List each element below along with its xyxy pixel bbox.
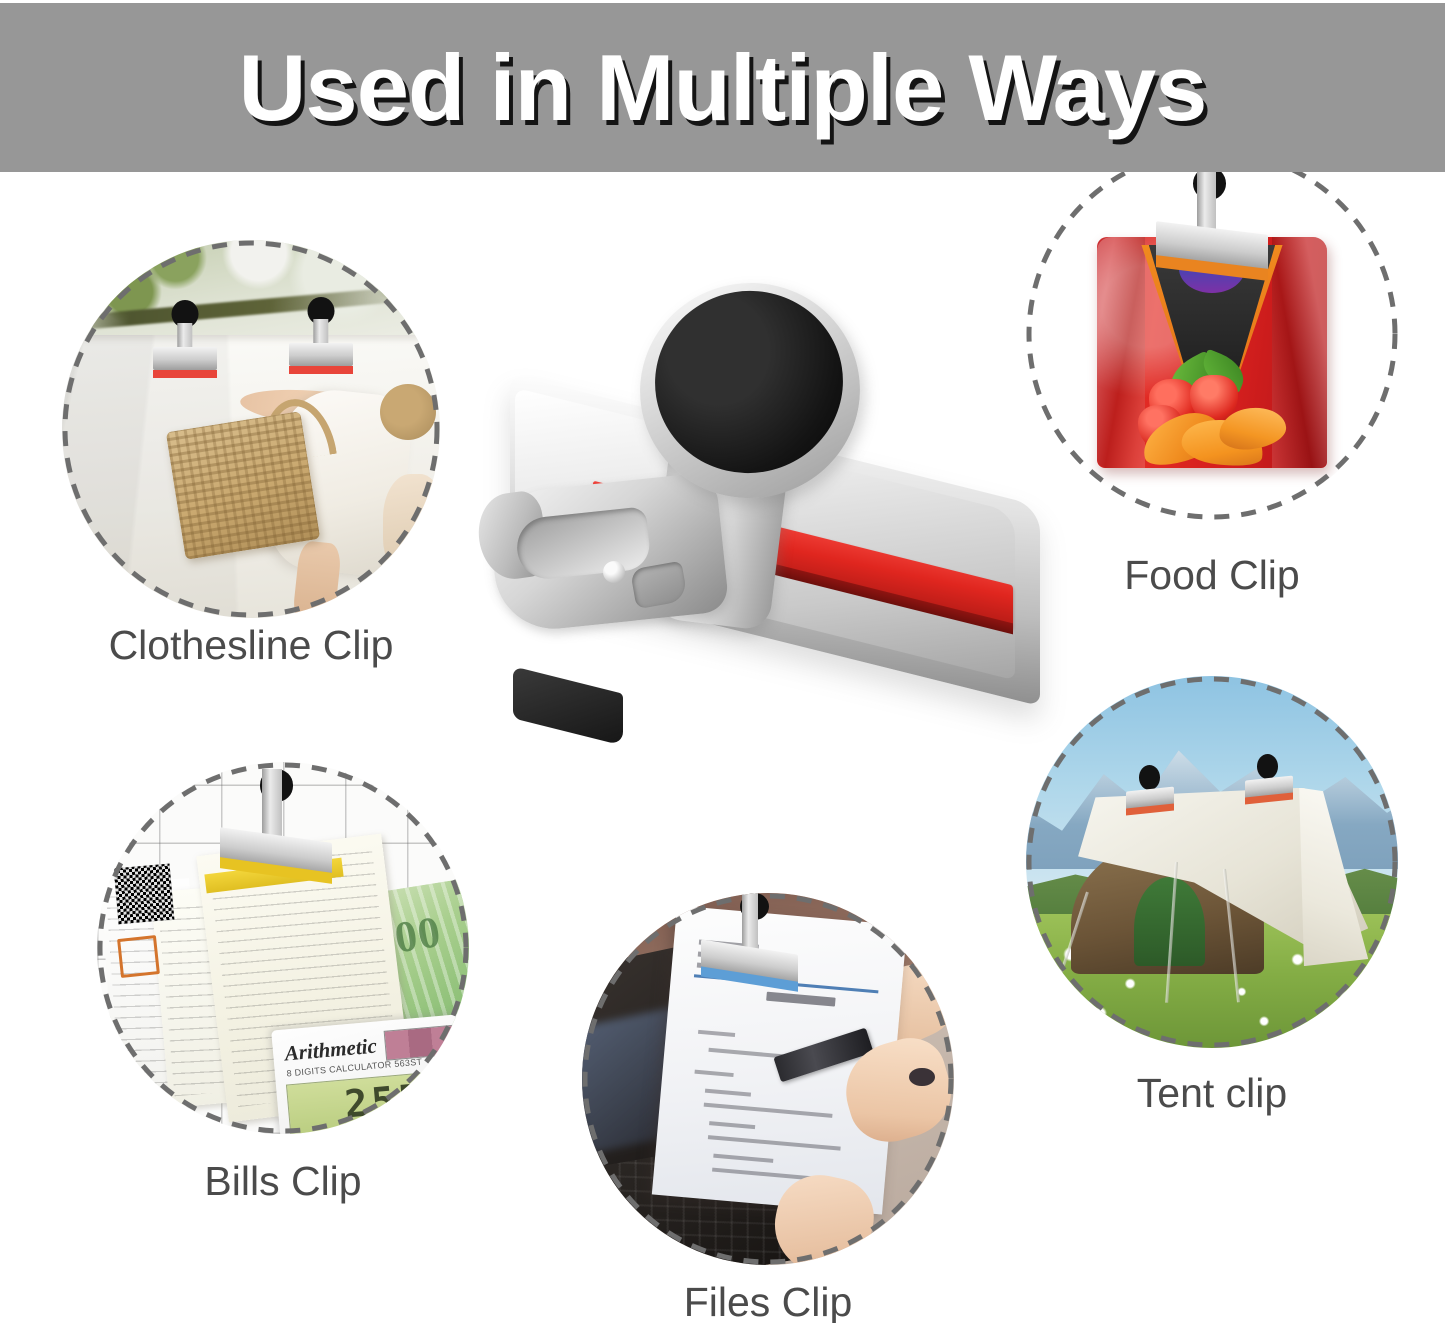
document-body-line (709, 1121, 755, 1129)
bag-crinkle-left (1097, 237, 1145, 468)
document-body-line (713, 1154, 773, 1163)
mini-clip-files (701, 893, 798, 997)
use-case-label-files: Files Clip (538, 1279, 998, 1323)
document-body-line (705, 1089, 751, 1097)
mini-clip-left (153, 300, 217, 387)
document-body-line (703, 1103, 832, 1118)
clothesline-photo (62, 240, 440, 618)
mini-clip-tent-left (1126, 765, 1174, 817)
files-scene (582, 893, 954, 1265)
woman-leg (292, 540, 342, 618)
bills-scene: 100 Arithmetic 8 DIGITS CALCULATOR 563ST (97, 762, 469, 1134)
mini-clip-jaw (153, 347, 217, 370)
clip-rivet (603, 561, 625, 583)
clothesline-scene (62, 240, 440, 618)
use-case-label-clothesline: Clothesline Clip (20, 622, 482, 669)
mini-clip-neck (262, 769, 282, 838)
files-photo (582, 893, 954, 1265)
use-case-clothesline: Clothesline Clip (62, 240, 440, 618)
mini-clip-tent-right (1245, 754, 1293, 806)
mini-clip-red-strip (153, 370, 217, 378)
mini-clip-food (1156, 167, 1268, 286)
use-case-bills: 100 Arithmetic 8 DIGITS CALCULATOR 563ST (97, 762, 469, 1134)
calculator-display-value: 2550 (342, 1074, 453, 1127)
calculator: Arithmetic 8 DIGITS CALCULATOR 563ST 255… (271, 1014, 469, 1134)
wicker-basket (166, 412, 321, 560)
bills-photo: 100 Arithmetic 8 DIGITS CALCULATOR 563ST (97, 762, 469, 1134)
document-body-line (698, 1030, 735, 1037)
clip-heel (513, 666, 623, 745)
mini-clip-right (289, 297, 353, 384)
use-case-label-tent: Tent clip (982, 1070, 1442, 1117)
use-case-label-bills: Bills Clip (53, 1158, 513, 1205)
mini-clip-jaw (289, 343, 353, 366)
calculator-solar-panel (383, 1025, 457, 1062)
mini-clip-pad (1257, 754, 1278, 779)
mini-clip-red-strip (289, 366, 353, 374)
document-body-line (707, 1136, 841, 1152)
product-infographic: Used in Multiple Ways (0, 0, 1445, 1323)
qr-code (113, 864, 173, 924)
calculator-display: 2550 (285, 1070, 466, 1134)
header-banner: Used in Multiple Ways (0, 3, 1445, 172)
mini-clip-neck (313, 319, 328, 345)
mini-clip-neck (177, 323, 192, 349)
hero-product-image (455, 265, 1095, 865)
red-seal-stamp (117, 935, 160, 978)
mini-clip-neck (1197, 167, 1216, 232)
mini-clip-pad (1139, 765, 1160, 790)
document-body-line (695, 1070, 734, 1077)
page-title: Used in Multiple Ways (0, 33, 1445, 143)
use-case-files: Files Clip (582, 893, 954, 1265)
mini-clip-bills (220, 769, 332, 888)
mini-clip-neck (742, 893, 758, 950)
child (383, 474, 440, 572)
woman-head (380, 384, 437, 441)
